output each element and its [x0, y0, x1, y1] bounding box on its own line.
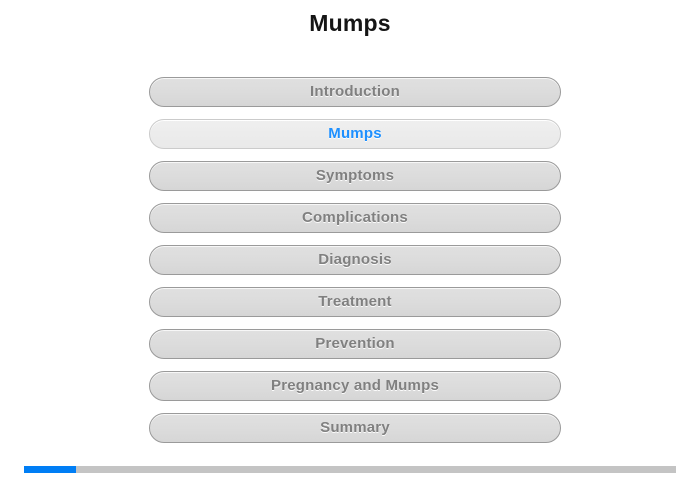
- nav-item-mumps[interactable]: Mumps: [149, 119, 561, 149]
- progress-bar-fill: [24, 466, 76, 473]
- nav-item-label: Complications: [302, 210, 408, 226]
- nav-item-label: Introduction: [310, 84, 400, 100]
- nav-item-label: Pregnancy and Mumps: [271, 378, 439, 394]
- nav-item-diagnosis[interactable]: Diagnosis: [149, 245, 561, 275]
- nav-item-label: Summary: [320, 420, 390, 436]
- page-title: Mumps: [0, 8, 700, 38]
- nav-item-label: Mumps: [328, 126, 382, 142]
- nav-item-introduction[interactable]: Introduction: [149, 77, 561, 107]
- nav-item-label: Symptoms: [316, 168, 394, 184]
- slide-root: Mumps Introduction Mumps Symptoms Compli…: [0, 0, 700, 480]
- progress-bar[interactable]: [24, 466, 676, 473]
- nav-item-label: Prevention: [315, 336, 395, 352]
- nav-item-symptoms[interactable]: Symptoms: [149, 161, 561, 191]
- nav-item-summary[interactable]: Summary: [149, 413, 561, 443]
- nav-item-prevention[interactable]: Prevention: [149, 329, 561, 359]
- nav-item-complications[interactable]: Complications: [149, 203, 561, 233]
- nav-item-label: Treatment: [318, 294, 392, 310]
- nav-item-pregnancy-and-mumps[interactable]: Pregnancy and Mumps: [149, 371, 561, 401]
- section-nav-list: Introduction Mumps Symptoms Complication…: [149, 77, 561, 455]
- nav-item-treatment[interactable]: Treatment: [149, 287, 561, 317]
- nav-item-label: Diagnosis: [318, 252, 391, 268]
